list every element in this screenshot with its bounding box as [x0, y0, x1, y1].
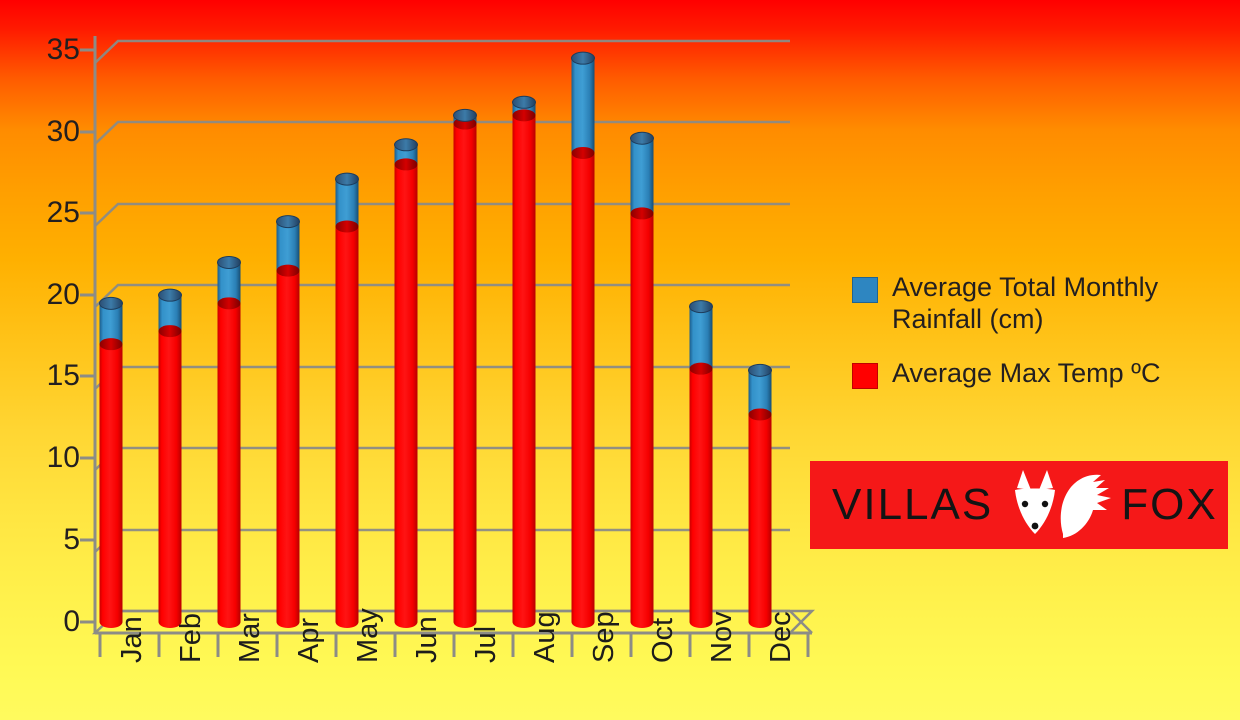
x-tick-apr: Apr [295, 618, 324, 663]
legend-label-temperature: Average Max Temp ºC [892, 358, 1160, 390]
x-tick-nov: Nov [708, 611, 737, 663]
legend-item-temperature[interactable]: Average Max Temp ºC [852, 358, 1232, 390]
x-tick-may: May [354, 608, 383, 663]
x-tick-aug: Aug [531, 611, 560, 663]
x-tick-feb: Feb [177, 613, 206, 663]
x-tick-mar: Mar [236, 613, 265, 663]
x-tick-jul: Jul [472, 626, 501, 663]
logo-word-villas: VILLAS [832, 480, 993, 530]
fox-icon [993, 468, 1121, 542]
legend-swatch-temperature [852, 363, 878, 389]
chart-container: 35 30 25 20 15 10 5 0 Jan Feb Mar Apr Ma… [0, 0, 1240, 720]
x-tick-jan: Jan [118, 616, 147, 663]
villas-fox-logo[interactable]: VILLAS FOX [810, 461, 1228, 549]
x-tick-oct: Oct [649, 618, 678, 663]
legend-item-rainfall[interactable]: Average Total Monthly Rainfall (cm) [852, 272, 1232, 336]
legend-label-rainfall: Average Total Monthly Rainfall (cm) [892, 272, 1232, 336]
x-tick-dec: Dec [767, 611, 796, 663]
logo-word-fox: FOX [1121, 480, 1217, 530]
x-tick-jun: Jun [413, 616, 442, 663]
legend-swatch-rainfall [852, 277, 878, 303]
x-tick-sep: Sep [590, 611, 619, 663]
chart-legend: Average Total Monthly Rainfall (cm) Aver… [852, 272, 1232, 412]
